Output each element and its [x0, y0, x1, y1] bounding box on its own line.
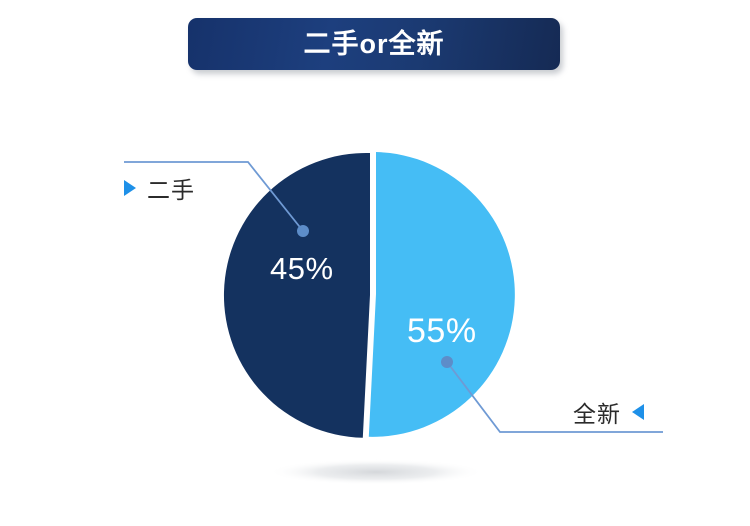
pie-chart: 45% 55% 二手 全新 — [0, 0, 750, 526]
leader-dot-new — [441, 356, 453, 368]
slice-value-used: 45% — [270, 251, 334, 287]
callout-label-new-text: 全新 — [573, 395, 621, 429]
leader-dot-used — [297, 225, 309, 237]
callout-label-used-text: 二手 — [147, 171, 195, 205]
slice-value-new: 55% — [407, 312, 477, 351]
triangle-right-icon — [124, 180, 136, 196]
triangle-left-icon — [632, 404, 644, 420]
pie-ground-shadow — [268, 459, 484, 485]
pie-chart-svg — [0, 0, 750, 526]
pie-slice-used[interactable] — [224, 153, 370, 438]
callout-label-used[interactable]: 二手 — [124, 171, 195, 205]
callout-label-new[interactable]: 全新 — [573, 395, 644, 429]
pie-slice-new[interactable] — [369, 152, 515, 437]
